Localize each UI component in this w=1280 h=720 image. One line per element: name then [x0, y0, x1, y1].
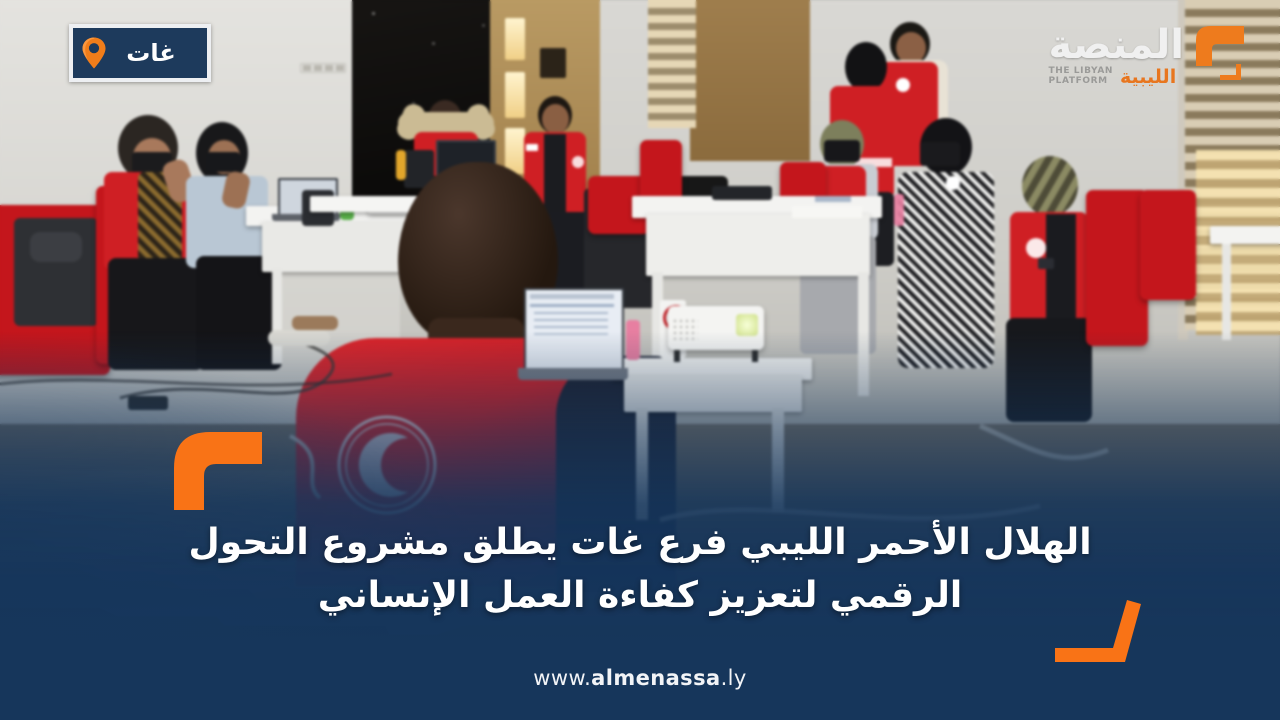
logo-bracket-mark	[1190, 20, 1252, 92]
news-card: غات المنصة الليبية THE LIBYAN PLATFORM	[0, 0, 1280, 720]
logo-latin-text: THE LIBYAN PLATFORM	[1048, 67, 1113, 86]
location-pin-icon	[81, 36, 107, 70]
logo-latin-line1: THE LIBYAN	[1048, 66, 1113, 76]
url-prefix: www.	[533, 666, 591, 690]
logo-arabic-main: المنصة	[1048, 25, 1184, 65]
headline: الهلال الأحمر الليبي فرع غات يطلق مشروع …	[180, 516, 1100, 623]
logo-arabic-sub: الليبية	[1120, 68, 1176, 87]
location-label: غات	[113, 41, 193, 65]
logo-latin-line2: PLATFORM	[1048, 76, 1107, 86]
url-brand: almenassa	[591, 666, 720, 690]
url-tld: .ly	[721, 666, 747, 690]
location-badge[interactable]: غات	[69, 24, 211, 82]
quote-bracket-open-icon	[166, 424, 262, 510]
site-url[interactable]: www.almenassa.ly	[0, 666, 1280, 690]
logo-wordmark: المنصة الليبية THE LIBYAN PLATFORM	[1048, 25, 1184, 86]
site-logo[interactable]: المنصة الليبية THE LIBYAN PLATFORM	[1048, 14, 1252, 98]
